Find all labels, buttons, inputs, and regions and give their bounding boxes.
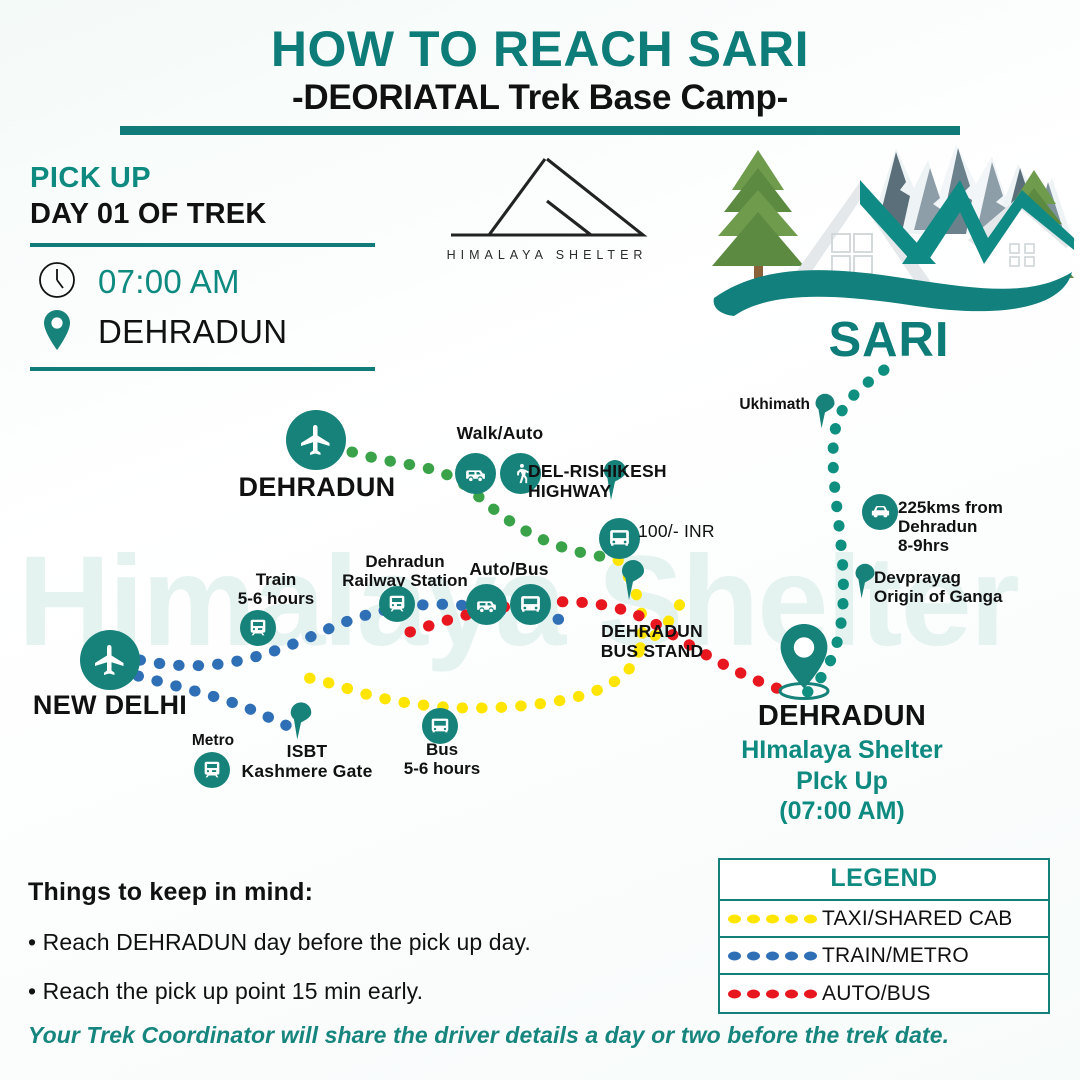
map-label-dehradun-airport: DEHRADUN	[232, 472, 402, 502]
legend-label-train: TRAIN/METRO	[822, 944, 969, 968]
bus-icon[interactable]	[422, 708, 458, 744]
map-label-ukhimath: Ukhimath	[718, 396, 810, 413]
airplane-icon[interactable]	[80, 630, 140, 690]
location-marker-icon[interactable]	[772, 622, 836, 707]
map-label-bus-fare: 100/- INR	[638, 522, 748, 542]
map-pin-small-icon[interactable]	[812, 392, 838, 435]
notes-heading: Things to keep in mind:	[28, 878, 708, 907]
legend-swatch-train	[726, 946, 822, 966]
legend-title: LEGEND	[720, 860, 1048, 901]
map-label-auto-bus: Auto/Bus	[458, 560, 560, 580]
train-icon[interactable]	[379, 586, 415, 622]
destination-detail: HImalaya Shelter PIck Up (07:00 AM)	[672, 735, 1012, 827]
destination-city: DEHRADUN	[672, 700, 1012, 733]
auto-rickshaw-icon[interactable]	[466, 584, 507, 625]
legend-row-auto: AUTO/BUS	[720, 975, 1048, 1012]
note-item-2: • Reach the pick up point 15 min early.	[28, 978, 708, 1005]
legend-label-auto: AUTO/BUS	[822, 982, 931, 1006]
legend-box: LEGEND TAXI/SHARED CAB TRAIN/METRO	[718, 858, 1050, 1014]
notes-block: Things to keep in mind: • Reach DEHRADUN…	[28, 878, 708, 1005]
map-label-cab-distance: 225kms from Dehradun 8-9hrs	[898, 498, 1078, 555]
train-icon[interactable]	[240, 610, 276, 646]
destination-marker-block: DEHRADUN HImalaya Shelter PIck Up (07:00…	[672, 700, 1012, 827]
map-pin-small-icon[interactable]	[287, 700, 315, 747]
map-pin-small-icon[interactable]	[618, 558, 648, 607]
map-label-walk-auto: Walk/Auto	[440, 424, 560, 444]
legend-row-train: TRAIN/METRO	[720, 938, 1048, 975]
notes-footnote: Your Trek Coordinator will share the dri…	[28, 1022, 1058, 1049]
map-label-devprayag: Devprayag Origin of Ganga	[874, 568, 1074, 606]
bus-icon[interactable]	[599, 518, 640, 559]
map-label-bus-duration: Bus 5-6 hours	[382, 740, 502, 778]
note-item-1: • Reach DEHRADUN day before the pick up …	[28, 929, 708, 956]
auto-rickshaw-icon[interactable]	[455, 453, 496, 494]
map-label-train: Train 5-6 hours	[216, 570, 336, 608]
legend-swatch-taxi	[726, 909, 822, 929]
airplane-icon[interactable]	[286, 410, 346, 470]
legend-swatch-auto	[726, 984, 822, 1004]
legend-label-taxi: TAXI/SHARED CAB	[822, 907, 1012, 931]
infographic-root: Himalaya Shelter HOW TO REACH SARI -DEOR…	[0, 0, 1080, 1080]
bus-icon[interactable]	[510, 584, 551, 625]
map-label-dehradun-bus-stand: DEHRADUN BUS STAND	[572, 622, 732, 661]
metro-train-icon[interactable]	[194, 752, 230, 788]
car-icon[interactable]	[862, 494, 898, 530]
map-label-new-delhi: NEW DELHI	[28, 690, 192, 720]
map-label-isbt: ISBT Kashmere Gate	[238, 742, 376, 781]
legend-row-taxi: TAXI/SHARED CAB	[720, 901, 1048, 938]
map-label-highway: DEL-RISHIKESH HIGHWAY	[528, 462, 698, 501]
